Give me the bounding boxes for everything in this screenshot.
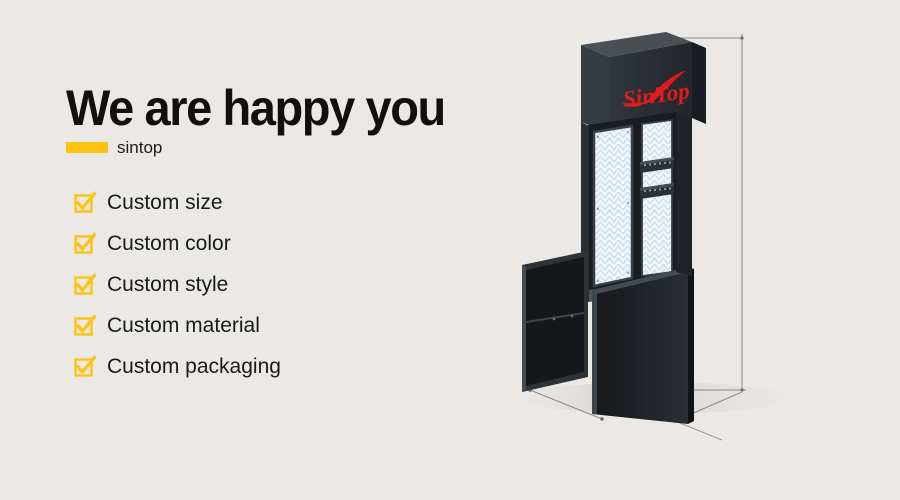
cabinet-right-side <box>688 267 694 424</box>
brand-line: sintop <box>66 138 486 156</box>
promo-banner: We are happy you sintop Custom size <box>0 0 900 500</box>
list-item: Custom size <box>74 182 281 223</box>
product-image: SinTop <box>470 0 900 500</box>
brand-name: sintop <box>117 139 162 156</box>
back-panel-left <box>594 126 632 286</box>
checked-checkbox-icon <box>74 356 95 377</box>
list-item: Custom style <box>74 264 281 305</box>
list-item-label: Custom material <box>107 315 260 336</box>
copy-block: We are happy you sintop <box>66 82 486 156</box>
page-title: We are happy you <box>66 82 461 134</box>
checked-checkbox-icon <box>74 192 95 213</box>
cabinet-front-edge-highlight <box>592 290 597 414</box>
checked-checkbox-icon <box>74 274 95 295</box>
cabinet-right-body <box>676 112 692 276</box>
header-front-panel <box>581 45 609 133</box>
open-door-edge <box>522 265 526 392</box>
checked-checkbox-icon <box>74 315 95 336</box>
brand-accent-bar <box>66 142 108 153</box>
list-item: Custom packaging <box>74 346 281 387</box>
feature-list: Custom size Custom color Custom style <box>74 182 281 387</box>
checked-checkbox-icon <box>74 233 95 254</box>
header-side-panel <box>692 42 706 124</box>
list-item-label: Custom packaging <box>107 356 281 377</box>
list-item: Custom material <box>74 305 281 346</box>
list-item-label: Custom color <box>107 233 231 254</box>
list-item-label: Custom size <box>107 192 223 213</box>
list-item: Custom color <box>74 223 281 264</box>
list-item-label: Custom style <box>107 274 228 295</box>
